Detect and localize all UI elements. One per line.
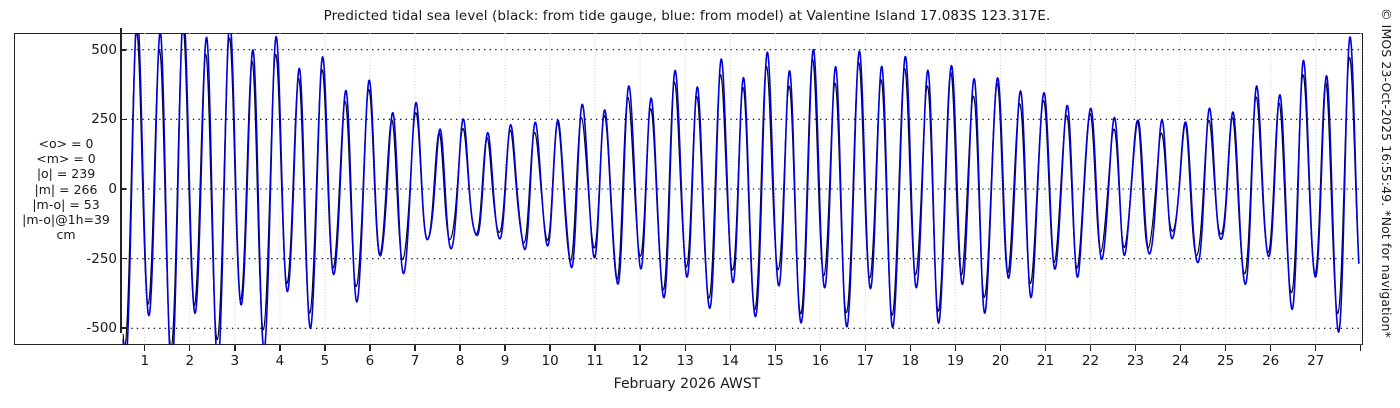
x-axis-tick bbox=[144, 345, 145, 351]
x-axis-tick-label: 16 bbox=[812, 353, 829, 369]
x-axis-title: February 2026 AWST bbox=[0, 376, 1374, 392]
x-axis-tick bbox=[639, 345, 640, 351]
x-axis-tick bbox=[1090, 345, 1091, 351]
x-axis-tick bbox=[414, 345, 415, 351]
x-axis-tick-label: 7 bbox=[411, 353, 420, 369]
statistics-line: |m-o|@1h=39 bbox=[2, 212, 130, 227]
statistics-line: <m> = 0 bbox=[2, 151, 130, 166]
x-axis-tick-label: 18 bbox=[902, 353, 919, 369]
tide-series-svg bbox=[120, 33, 1363, 345]
x-axis-tick bbox=[1000, 345, 1001, 351]
x-axis-tick bbox=[1045, 345, 1046, 351]
x-axis-tick-label: 8 bbox=[456, 353, 465, 369]
x-axis-tick-label: 6 bbox=[366, 353, 375, 369]
x-axis-tick bbox=[594, 345, 595, 351]
x-axis-tick-label: 12 bbox=[632, 353, 649, 369]
y-axis-tick-label: 250 bbox=[91, 111, 117, 127]
x-axis-tick bbox=[910, 345, 911, 351]
y-axis-tick bbox=[120, 49, 126, 51]
x-axis-tick bbox=[1315, 345, 1316, 351]
y-axis-tick-label: -250 bbox=[86, 251, 117, 267]
statistics-line: |o| = 239 bbox=[2, 166, 130, 181]
x-axis-tick bbox=[1225, 345, 1226, 351]
x-axis-tick-label: 24 bbox=[1172, 353, 1189, 369]
x-axis-tick bbox=[1360, 345, 1361, 351]
x-axis-tick bbox=[820, 345, 821, 351]
y-axis-tick-label: 500 bbox=[91, 42, 117, 58]
tidal-chart-figure: Predicted tidal sea level (black: from t… bbox=[0, 0, 1400, 400]
x-axis-tick-label: 20 bbox=[992, 353, 1009, 369]
statistics-line: |m-o| = 53 bbox=[2, 197, 130, 212]
x-axis-tick-label: 11 bbox=[587, 353, 604, 369]
x-axis-tick-label: 5 bbox=[321, 353, 330, 369]
x-axis-tick bbox=[730, 345, 731, 351]
x-axis-tick-label: 15 bbox=[767, 353, 784, 369]
x-axis-tick-label: 19 bbox=[947, 353, 964, 369]
x-axis-tick bbox=[324, 345, 325, 351]
page-title: Predicted tidal sea level (black: from t… bbox=[0, 8, 1374, 24]
x-axis-tick-label: 23 bbox=[1127, 353, 1144, 369]
x-axis-tick-label: 25 bbox=[1217, 353, 1234, 369]
statistics-line: <o> = 0 bbox=[2, 136, 130, 151]
x-axis-tick bbox=[1135, 345, 1136, 351]
x-axis-tick bbox=[549, 345, 550, 351]
x-axis-tick bbox=[865, 345, 866, 351]
x-axis-tick bbox=[459, 345, 460, 351]
statistics-line: |m| = 266 bbox=[2, 182, 130, 197]
x-axis-tick bbox=[189, 345, 190, 351]
x-axis-tick-label: 17 bbox=[857, 353, 874, 369]
x-axis-tick-label: 9 bbox=[501, 353, 510, 369]
plot-area bbox=[120, 33, 1363, 345]
x-axis-tick-label: 27 bbox=[1307, 353, 1324, 369]
y-axis-tick-label: -500 bbox=[86, 320, 117, 336]
x-axis-tick-label: 1 bbox=[140, 353, 149, 369]
statistics-block: <o> = 0<m> = 0|o| = 239|m| = 266|m-o| = … bbox=[2, 136, 130, 242]
x-axis-tick bbox=[369, 345, 370, 351]
x-axis-tick bbox=[234, 345, 235, 351]
x-axis-tick-label: 21 bbox=[1037, 353, 1054, 369]
x-axis-tick bbox=[504, 345, 505, 351]
statistics-line: cm bbox=[2, 227, 130, 242]
x-axis-tick-label: 14 bbox=[722, 353, 739, 369]
x-axis-tick bbox=[279, 345, 280, 351]
x-axis-tick-label: 22 bbox=[1082, 353, 1099, 369]
y-axis-tick bbox=[120, 119, 126, 121]
x-axis-tick-label: 26 bbox=[1262, 353, 1279, 369]
x-axis-tick-label: 13 bbox=[677, 353, 694, 369]
x-axis-tick bbox=[1180, 345, 1181, 351]
x-axis-tick-label: 2 bbox=[186, 353, 195, 369]
x-axis-tick bbox=[685, 345, 686, 351]
copyright-credit: © IMOS 23-Oct-2025 16:55:49. *Not for na… bbox=[1372, 8, 1394, 408]
x-axis-tick bbox=[775, 345, 776, 351]
x-axis-tick bbox=[1270, 345, 1271, 351]
x-axis-tick-label: 4 bbox=[276, 353, 285, 369]
x-axis-tick-label: 3 bbox=[231, 353, 240, 369]
y-axis-tick bbox=[120, 327, 126, 329]
x-axis-tick-label: 10 bbox=[542, 353, 559, 369]
y-axis-tick bbox=[120, 258, 126, 260]
x-axis-tick bbox=[955, 345, 956, 351]
